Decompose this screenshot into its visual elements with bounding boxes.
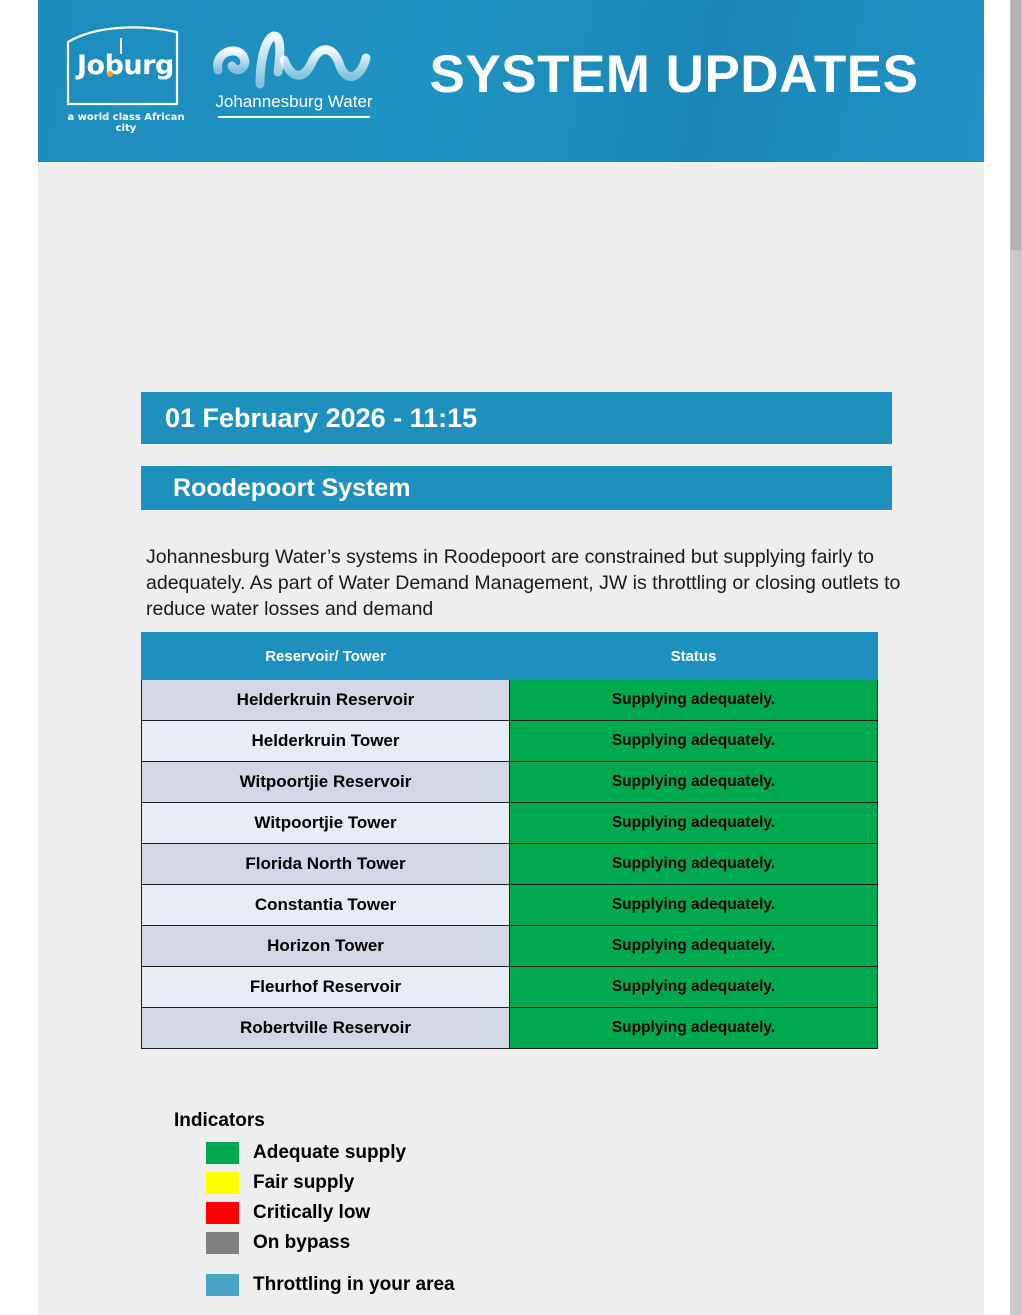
indicator-swatch: [206, 1274, 239, 1296]
cell-reservoir-name: Robertville Reservoir: [142, 1008, 510, 1049]
intro-paragraph: Johannesburg Water’s systems in Roodepoo…: [146, 544, 921, 622]
cell-status: Supplying adequately.: [510, 844, 878, 885]
table-body: Helderkruin ReservoirSupplying adequatel…: [142, 680, 878, 1049]
indicator-item: Adequate supply: [170, 1138, 590, 1168]
table-row: Witpoortjie TowerSupplying adequately.: [142, 803, 878, 844]
indicator-label: Fair supply: [253, 1172, 354, 1194]
scrollbar-thumb[interactable]: [1011, 0, 1021, 250]
table-row: Constantia TowerSupplying adequately.: [142, 885, 878, 926]
indicator-swatch: [206, 1232, 239, 1254]
indicator-label: On bypass: [253, 1232, 350, 1254]
cell-status: Supplying adequately.: [510, 680, 878, 721]
indicator-swatch: [206, 1202, 239, 1224]
page-title: SYSTEM UPDATES: [378, 44, 970, 105]
cell-reservoir-name: Helderkruin Reservoir: [142, 680, 510, 721]
cell-status: Supplying adequately.: [510, 762, 878, 803]
column-header-name: Reservoir/ Tower: [142, 633, 510, 680]
indicator-swatch: [206, 1142, 239, 1164]
jw-logo-underline: [218, 116, 370, 118]
cell-status: Supplying adequately.: [510, 721, 878, 762]
cell-reservoir-name: Helderkruin Tower: [142, 721, 510, 762]
cell-reservoir-name: Horizon Tower: [142, 926, 510, 967]
column-header-status: Status: [510, 633, 878, 680]
page-frame: Joburg a world class African city: [0, 0, 1022, 1315]
table-row: Helderkruin ReservoirSupplying adequatel…: [142, 680, 878, 721]
cell-status: Supplying adequately.: [510, 803, 878, 844]
table-row: Helderkruin TowerSupplying adequately.: [142, 721, 878, 762]
indicator-label: Throttling in your area: [253, 1274, 455, 1296]
cell-reservoir-name: Witpoortjie Reservoir: [142, 762, 510, 803]
indicator-item: Fair supply: [170, 1168, 590, 1198]
table-row: Witpoortjie ReservoirSupplying adequatel…: [142, 762, 878, 803]
water-wave-icon: [208, 30, 380, 92]
indicator-item: Critically low: [170, 1198, 590, 1228]
system-bar: Roodepoort System: [141, 466, 892, 510]
joburg-wordmark: Joburg: [77, 50, 173, 81]
table-row: Horizon TowerSupplying adequately.: [142, 926, 878, 967]
cell-status: Supplying adequately.: [510, 926, 878, 967]
indicators-list: Adequate supplyFair supplyCritically low…: [170, 1138, 590, 1300]
reservoir-status-table: Reservoir/ Tower Status Helderkruin Rese…: [141, 632, 878, 1049]
date-bar: 01 February 2026 - 11:15: [141, 392, 892, 444]
indicators-title: Indicators: [174, 1110, 590, 1132]
johannesburg-water-logo: Johannesburg Water: [206, 30, 382, 130]
document-sheet: Joburg a world class African city: [38, 0, 984, 1315]
table-row: Fleurhof ReservoirSupplying adequately.: [142, 967, 878, 1008]
cell-reservoir-name: Constantia Tower: [142, 885, 510, 926]
indicator-label: Critically low: [253, 1202, 370, 1224]
table-row: Robertville ReservoirSupplying adequatel…: [142, 1008, 878, 1049]
indicator-swatch: [206, 1172, 239, 1194]
indicator-item: On bypass: [170, 1228, 590, 1258]
cell-status: Supplying adequately.: [510, 1008, 878, 1049]
system-bar-label: Roodepoort System: [173, 474, 411, 503]
joburg-tagline: a world class African city: [65, 112, 187, 134]
cell-reservoir-name: Fleurhof Reservoir: [142, 967, 510, 1008]
cell-reservoir-name: Witpoortjie Tower: [142, 803, 510, 844]
jw-logo-label: Johannesburg Water: [206, 92, 382, 112]
indicator-item: Throttling in your area: [170, 1270, 590, 1300]
page-header: Joburg a world class African city: [38, 0, 984, 162]
table-row: Florida North TowerSupplying adequately.: [142, 844, 878, 885]
table-header-row: Reservoir/ Tower Status: [142, 633, 878, 680]
joburg-logo: Joburg a world class African city: [65, 22, 195, 140]
indicators-legend: Indicators Adequate supplyFair supplyCri…: [170, 1110, 590, 1300]
cell-status: Supplying adequately.: [510, 967, 878, 1008]
date-bar-label: 01 February 2026 - 11:15: [165, 403, 477, 434]
indicator-label: Adequate supply: [253, 1142, 406, 1164]
scrollbar[interactable]: [1009, 0, 1022, 1315]
joburg-dot-icon: [107, 71, 113, 77]
cell-status: Supplying adequately.: [510, 885, 878, 926]
cell-reservoir-name: Florida North Tower: [142, 844, 510, 885]
